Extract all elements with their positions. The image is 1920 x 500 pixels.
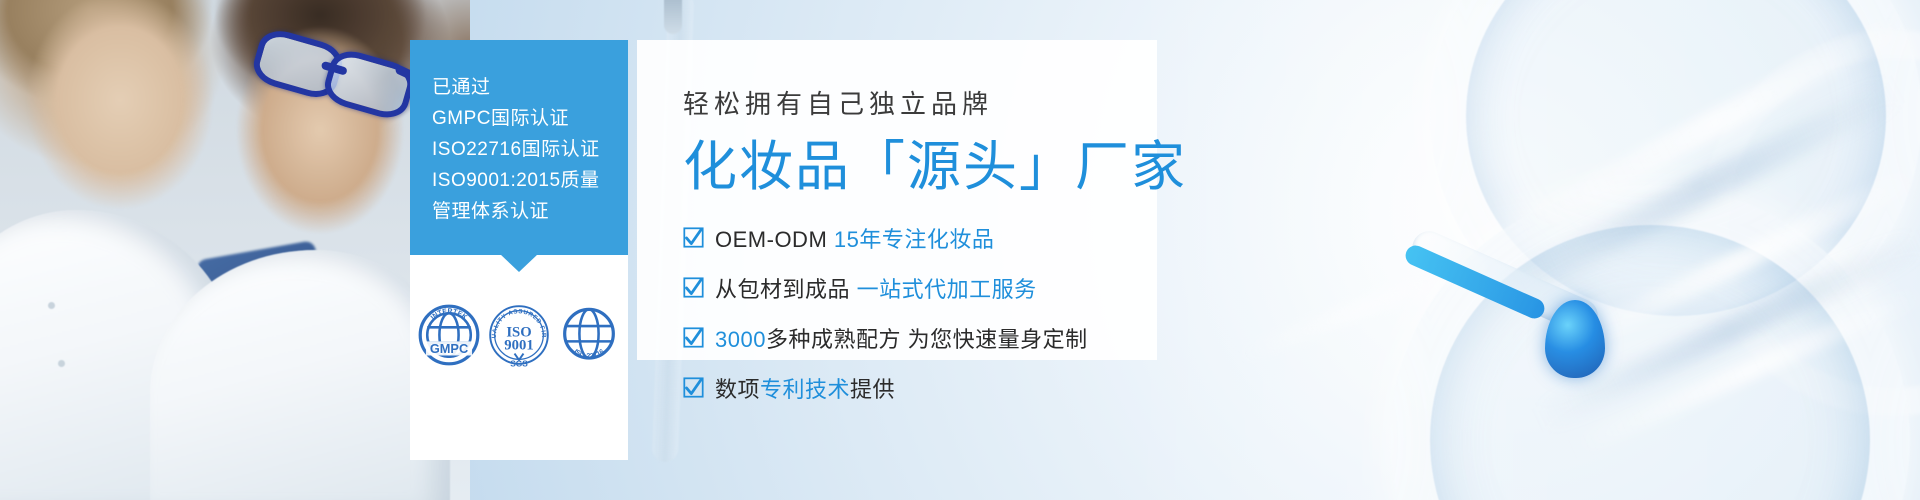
feature-text: 3000多种成熟配方 为您快速量身定制 <box>715 322 1088 354</box>
check-box-icon <box>683 227 704 248</box>
feature-text-plain-before: OEM-ODM <box>715 227 834 252</box>
check-box-icon <box>683 277 704 298</box>
svg-text:GMPC: GMPC <box>430 341 468 356</box>
feature-text: OEM-ODM 15年专注化妆品 <box>715 222 994 254</box>
certification-blue-block: 已通过 GMPC国际认证 ISO22716国际认证 ISO9001:2015质量… <box>410 40 628 255</box>
feature-text-plain-after: 多种成熟配方 为您快速量身定制 <box>766 327 1088 352</box>
feature-list: OEM-ODM 15年专注化妆品 从包材到成品 一站式代加工服务 <box>683 222 1157 404</box>
feature-text-plain-after: 提供 <box>850 377 895 402</box>
feature-item: 数项专利技术提供 <box>683 372 1157 404</box>
certification-line-3: ISO9001:2015质量 <box>432 165 628 196</box>
feature-text-plain-before: 从包材到成品 <box>715 277 857 302</box>
certification-line-1: GMPC国际认证 <box>432 103 628 134</box>
main-headline: 化妆品「源头」厂家 <box>683 139 1157 196</box>
svg-text:9001: 9001 <box>504 338 533 354</box>
iso22716-logo: ISO 22716 <box>557 303 621 367</box>
feature-text: 从包材到成品 一站式代加工服务 <box>715 272 1037 304</box>
certification-line-4: 管理体系认证 <box>432 196 628 227</box>
check-box-icon <box>683 377 704 398</box>
certification-card: 已通过 GMPC国际认证 ISO22716国际认证 ISO9001:2015质量… <box>410 40 628 460</box>
sub-headline: 轻松拥有自己独立品牌 <box>683 84 1157 121</box>
feature-text-highlight: 3000 <box>715 327 766 352</box>
promo-banner: 已通过 GMPC国际认证 ISO22716国际认证 ISO9001:2015质量… <box>0 0 1920 500</box>
feature-item: OEM-ODM 15年专注化妆品 <box>683 222 1157 254</box>
certification-line-0: 已通过 <box>432 72 628 103</box>
feature-item: 从包材到成品 一站式代加工服务 <box>683 272 1157 304</box>
sgs-iso9001-logo: QUALITY ASSURED FIRM ISO 9001 SGS <box>487 303 551 367</box>
downward-arrow-icon <box>500 254 538 272</box>
feature-text-highlight: 一站式代加工服务 <box>857 277 1037 302</box>
feature-item: 3000多种成熟配方 为您快速量身定制 <box>683 322 1157 354</box>
promo-content-card: 轻松拥有自己独立品牌 化妆品「源头」厂家 OEM-ODM 15年专注化妆品 <box>637 40 1157 360</box>
feature-text: 数项专利技术提供 <box>715 372 895 404</box>
svg-text:ISO 22716: ISO 22716 <box>572 348 606 360</box>
feature-text-highlight: 专利技术 <box>760 377 850 402</box>
svg-text:SGS: SGS <box>510 358 528 367</box>
feature-text-plain-before: 数项 <box>715 377 760 402</box>
certification-logo-row: INTERTEK GMPC QUALITY ASSURED FIRM ISO 9… <box>410 303 628 367</box>
certification-line-2: ISO22716国际认证 <box>432 134 628 165</box>
check-box-icon <box>683 327 704 348</box>
intertek-gmpc-logo: INTERTEK GMPC <box>417 303 481 367</box>
feature-text-highlight: 15年专注化妆品 <box>834 227 994 252</box>
